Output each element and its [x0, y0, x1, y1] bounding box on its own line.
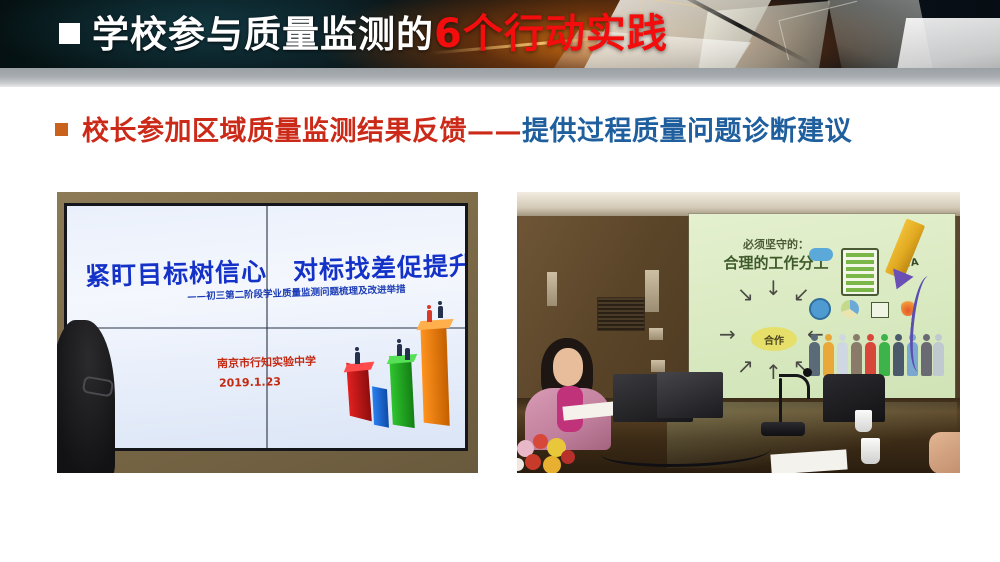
flower-icon: [517, 458, 524, 471]
wall-trim: [645, 270, 659, 312]
flower-icon: [543, 456, 561, 473]
person-icon: [879, 342, 890, 376]
slide-header-banner: 学校参与质量监测的6个行动实践: [0, 0, 1000, 68]
screen-seam-horizontal: [67, 327, 465, 329]
papers-on-table: [770, 449, 847, 473]
paper-cup-icon: [855, 410, 872, 432]
hand: [929, 432, 960, 473]
microphone-stand: [779, 378, 782, 428]
page-title: 学校参与质量监测的6个行动实践: [92, 8, 668, 60]
wall-vent-icon: [597, 297, 645, 331]
laptop-icon: [657, 372, 723, 418]
paper-cup-icon: [861, 438, 880, 464]
subtitle-red-part: 校长参加区域质量监测结果反馈——: [82, 116, 522, 147]
arrow-up-right-icon: ↗: [737, 356, 754, 376]
photo-left: 紧盯目标树信心 对标找差促提升 ——初三第二阶段学业质量监测问题梳理及改进举措 …: [57, 192, 478, 473]
flower-icon: [525, 454, 541, 470]
figure-icon: [355, 352, 360, 364]
speaker-face: [553, 348, 583, 386]
bar-green: [389, 356, 415, 428]
photo-right: 必须坚守的： 合理的工作分工 ↓ ↘ ↙ → ← ↗ ↑ ↖ 合作 BIGDAT…: [517, 192, 960, 473]
pencil-tip-icon: [886, 269, 913, 294]
page-title-red-part: 6个行动实践: [434, 11, 668, 57]
flower-icon: [533, 434, 548, 449]
flower-bouquet: [517, 432, 587, 473]
wall-trim: [649, 328, 663, 340]
screen-frame: 紧盯目标树信心 对标找差促提升 ——初三第二阶段学业质量监测问题梳理及改进举措 …: [64, 203, 468, 451]
document-icon: [871, 302, 889, 318]
figure-icon: [397, 344, 402, 356]
person-icon: [837, 342, 848, 376]
subtitle-blue-part: 提供过程质量问题诊断建议: [522, 116, 852, 147]
person-icon: [851, 342, 862, 376]
header-decor-shard: [894, 18, 1000, 68]
arrow-down-right-icon: ↘: [737, 284, 754, 304]
subtitle-row: 校长参加区域质量监测结果反馈——提供过程质量问题诊断建议: [0, 108, 1000, 156]
figure-head-icon: [397, 339, 401, 343]
figure-icon: [438, 306, 443, 318]
person-icon: [865, 342, 876, 376]
center-label-cooperation: 合作: [751, 327, 797, 351]
bar-orange: [420, 322, 449, 426]
slide-screen-date: 2019.1.23: [219, 375, 281, 390]
figure-head-icon: [427, 305, 431, 309]
arrow-down-left-icon: ↙: [793, 284, 810, 304]
figure-head-icon: [355, 347, 359, 351]
arrow-right-icon: →: [719, 324, 736, 344]
figure-icon: [427, 310, 432, 322]
pie-chart-icon: [841, 300, 859, 318]
wall-trim: [651, 360, 665, 372]
pencil-icon: [885, 218, 925, 279]
chair-icon: [823, 374, 885, 422]
microphone-head-icon: [803, 368, 812, 377]
arrow-down-icon: ↓: [765, 278, 782, 298]
projection-screen: 必须坚守的： 合理的工作分工 ↓ ↘ ↙ → ← ↗ ↑ ↖ 合作 BIGDAT…: [689, 214, 955, 406]
person-icon: [823, 342, 834, 376]
room-ceiling: [517, 192, 960, 216]
flower-icon: [561, 450, 575, 464]
server-icon: [841, 248, 879, 296]
bar-blue: [372, 386, 389, 427]
microphone-base: [761, 422, 805, 436]
bar-green-top: [387, 354, 418, 364]
microphone-arm: [779, 374, 810, 399]
cloud-icon: [809, 248, 833, 261]
globe-icon: [809, 298, 831, 320]
person-icon: [933, 342, 944, 376]
orange-square-bullet-icon: [55, 123, 68, 136]
projection-screen: 紧盯目标树信心 对标找差促提升 ——初三第二阶段学业质量监测问题梳理及改进举措 …: [67, 206, 465, 448]
figure-head-icon: [438, 301, 442, 305]
wall-trim: [547, 272, 557, 306]
subtitle-text: 校长参加区域质量监测结果反馈——提供过程质量问题诊断建议: [82, 108, 852, 156]
slide-screen-school-name: 南京市行知实验中学: [217, 353, 316, 372]
white-square-bullet-icon: [59, 23, 80, 44]
person-icon: [893, 342, 904, 376]
header-gray-divider-band: [0, 68, 1000, 87]
page-title-white-part: 学校参与质量监测的: [92, 13, 434, 56]
figure-icon: [405, 348, 410, 360]
